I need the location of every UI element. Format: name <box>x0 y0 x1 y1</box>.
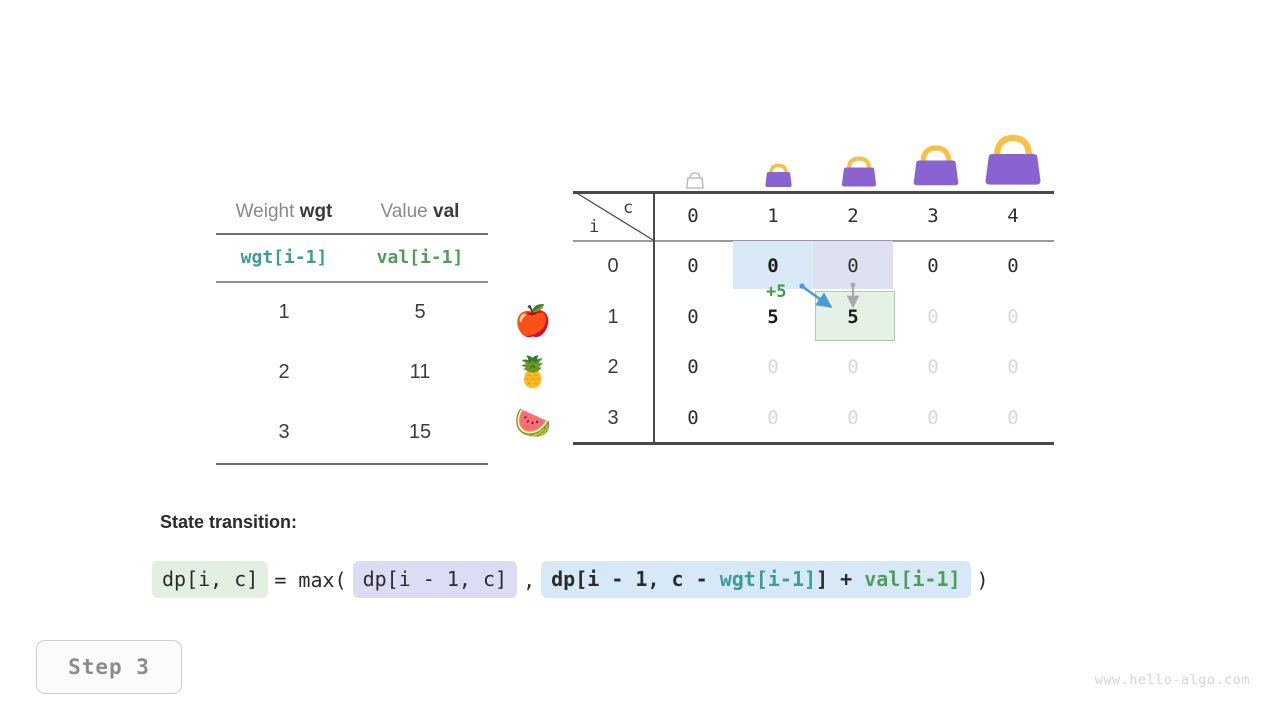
dp-cell-3-0: 0 <box>653 393 733 444</box>
bag-capacity-row <box>654 120 1054 190</box>
bag-icon-capacity-3 <box>909 140 963 190</box>
bag-icon-capacity-0 <box>684 170 706 190</box>
items-table-rule-bottom <box>216 463 488 465</box>
dp-col-header: 3 <box>893 191 973 241</box>
dp-cell-2-2: 0 <box>813 342 893 393</box>
dp-cell-0-4: 0 <box>973 241 1053 292</box>
formula-equals-max: = max( <box>268 568 352 592</box>
table-row: 3 15 <box>216 403 488 463</box>
dp-column-header-row: 0 1 2 3 4 <box>653 191 1053 241</box>
formula-lhs: dp[i, c] <box>152 561 268 598</box>
site-watermark: www.hello-algo.com <box>1095 672 1250 688</box>
dp-row-header: 1 <box>573 292 653 343</box>
dp-col-header: 4 <box>973 191 1053 241</box>
dp-cell-3-4: 0 <box>973 393 1053 444</box>
dp-cell-2-0: 0 <box>653 342 733 393</box>
dp-col-header: 0 <box>653 191 733 241</box>
formula-take-prefix: dp[i - 1, c - <box>551 567 720 591</box>
dp-col-header: 1 <box>733 191 813 241</box>
formula-option-take: dp[i - 1, c - wgt[i-1]] + val[i-1] <box>541 561 970 598</box>
cell-weight: 2 <box>216 343 352 403</box>
header-weight: Weight wgt <box>216 192 352 233</box>
table-row: 1 5 <box>216 283 488 343</box>
state-transition-title: State transition: <box>160 512 297 533</box>
pineapple-icon: 🍍 <box>508 347 558 398</box>
bag-icon-capacity-4 <box>980 128 1046 190</box>
dp-row-header: 0 <box>573 241 653 292</box>
fruit-column: 🍎 🍍 🍉 <box>508 296 558 449</box>
subheader-wgt-expr: wgt[i-1] <box>216 235 352 281</box>
vertical-transition-arrow <box>845 281 861 315</box>
dp-cell-2-4: 0 <box>973 342 1053 393</box>
dp-cell-3-1: 0 <box>733 393 813 444</box>
dp-row: 2 0 0 0 0 0 <box>573 342 1054 393</box>
dp-row-header: 3 <box>573 393 653 444</box>
items-table-subheader-row: wgt[i-1] val[i-1] <box>216 235 488 281</box>
step-badge: Step 3 <box>36 640 182 694</box>
cell-value: 11 <box>352 343 488 403</box>
items-table-header-row: Weight wgt Value val <box>216 192 488 233</box>
dp-cell-1-0: 0 <box>653 292 733 343</box>
header-value: Value val <box>352 192 488 233</box>
dp-cell-1-3: 0 <box>893 292 973 343</box>
formula-comma: , <box>517 568 541 592</box>
apple-icon: 🍎 <box>508 296 558 347</box>
dp-corner-diagonal <box>573 191 654 241</box>
watermelon-icon: 🍉 <box>508 398 558 449</box>
dp-cell-3-3: 0 <box>893 393 973 444</box>
bag-icon-capacity-1 <box>762 160 795 190</box>
dp-cell-3-2: 0 <box>813 393 893 444</box>
table-row: 2 11 <box>216 343 488 403</box>
dp-row-axis-label: i <box>589 217 599 237</box>
value-increment-annotation: +5 <box>766 282 787 302</box>
dp-col-axis-label: c <box>623 198 633 218</box>
dp-row: 3 0 0 0 0 0 <box>573 393 1054 444</box>
dp-col-header: 2 <box>813 191 893 241</box>
subheader-val-expr: val[i-1] <box>352 235 488 281</box>
formula-close-paren: ) <box>971 568 995 592</box>
dp-cell-0-0: 0 <box>653 241 733 292</box>
dp-cell-2-1: 0 <box>733 342 813 393</box>
cell-weight: 3 <box>216 403 352 463</box>
formula-take-mid: ] + <box>816 567 864 591</box>
cell-value: 15 <box>352 403 488 463</box>
state-transition-formula: dp[i, c] = max( dp[i - 1, c] , dp[i - 1,… <box>152 561 995 598</box>
dp-cell-1-4: 0 <box>973 292 1053 343</box>
formula-option-skip: dp[i - 1, c] <box>353 561 518 598</box>
diagonal-transition-arrow <box>798 282 842 316</box>
dp-grid: 0 0 0 0 0 0 1 0 5 5 0 0 2 0 0 0 0 0 3 0 … <box>573 241 1054 443</box>
formula-val-term: val[i-1] <box>864 567 960 591</box>
dp-row-header: 2 <box>573 342 653 393</box>
dp-cell-0-3: 0 <box>893 241 973 292</box>
dp-table: c i 0 1 2 3 4 0 0 0 0 0 0 1 0 5 5 0 0 2 … <box>573 191 1054 445</box>
bag-icon-capacity-2 <box>838 152 880 190</box>
step-badge-label: Step 3 <box>68 655 150 679</box>
items-table: Weight wgt Value val wgt[i-1] val[i-1] 1… <box>216 192 488 465</box>
dp-cell-2-3: 0 <box>893 342 973 393</box>
formula-wgt-term: wgt[i-1] <box>720 567 816 591</box>
cell-value: 5 <box>352 283 488 343</box>
cell-weight: 1 <box>216 283 352 343</box>
